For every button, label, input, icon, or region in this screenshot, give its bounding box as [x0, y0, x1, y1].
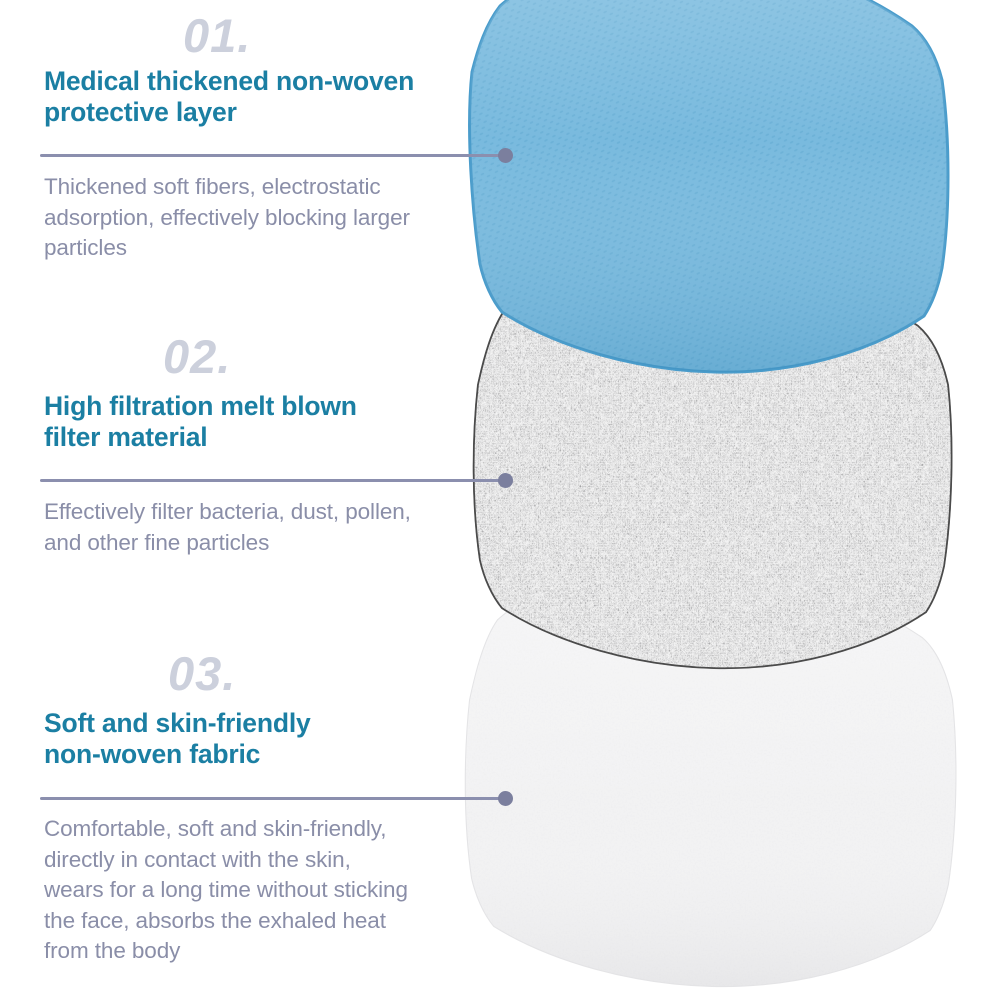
- section-description-02: Effectively filter bacteria, dust, polle…: [44, 497, 484, 558]
- section-number-02: 02.: [163, 333, 231, 380]
- section-description-01: Thickened soft fibers, electrostatic ads…: [44, 172, 484, 264]
- section-title-03: Soft and skin-friendly non-woven fabric: [44, 708, 474, 769]
- section-description-03: Comfortable, soft and skin-friendly, dir…: [44, 814, 484, 967]
- connector-dot-02: [498, 473, 513, 488]
- section-divider-01: [40, 154, 506, 157]
- section-title-01: Medical thickened non-woven protective l…: [44, 66, 474, 127]
- layer-outer-blue-non-woven: [470, 0, 948, 372]
- section-divider-02: [40, 479, 506, 482]
- section-number-03: 03.: [168, 650, 236, 697]
- infographic-canvas: 01. Medical thickened non-woven protecti…: [0, 0, 1000, 1000]
- connector-dot-03: [498, 791, 513, 806]
- connector-dot-01: [498, 148, 513, 163]
- section-title-02: High filtration melt blown filter materi…: [44, 391, 474, 452]
- section-number-01: 01.: [183, 12, 251, 59]
- section-divider-03: [40, 797, 506, 800]
